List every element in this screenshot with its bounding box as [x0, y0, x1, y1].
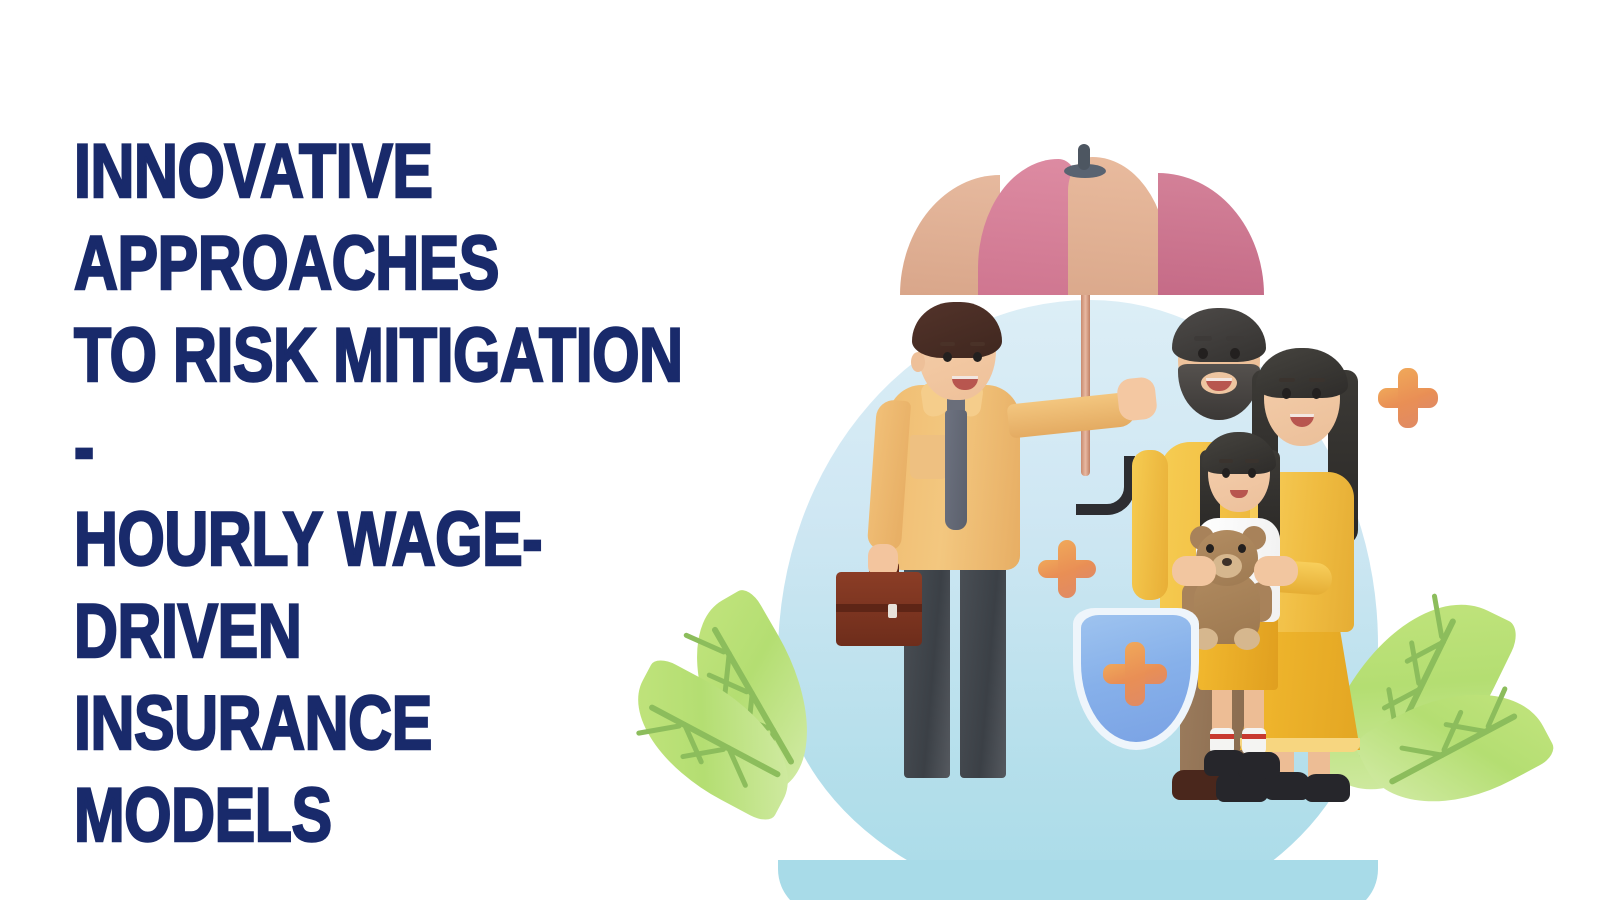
mother-eyebrow: [1279, 378, 1295, 382]
umbrella-tip: [1078, 144, 1090, 170]
umbrella-handle: [1076, 456, 1135, 515]
father-hand: [1172, 556, 1216, 586]
teddy-bear-eye: [1238, 544, 1246, 553]
protection-shield-icon: [1073, 608, 1199, 750]
agent-tie: [945, 410, 967, 530]
agent-ear: [911, 352, 925, 372]
shoe-icon: [956, 765, 1018, 799]
poster-canvas: INNOVATIVE APPROACHES TO RISK MITIGATION…: [0, 0, 1599, 900]
family-insurance-illustration: [660, 120, 1540, 810]
shoe-icon: [1238, 752, 1280, 778]
child-eyebrow: [1219, 459, 1233, 463]
mother-hair: [1256, 348, 1348, 398]
shoe-icon: [1304, 774, 1350, 802]
teddy-bear-nose: [1222, 558, 1232, 566]
father-eyebrow: [1194, 336, 1212, 341]
teddy-bear-eye: [1206, 544, 1214, 553]
mother-eye: [1312, 388, 1321, 399]
plus-icon: [1038, 540, 1096, 598]
briefcase-clasp: [888, 604, 897, 618]
agent-eye: [943, 352, 952, 362]
father-eye: [1230, 348, 1240, 359]
briefcase-flap: [836, 604, 922, 612]
child-eye: [1248, 468, 1256, 478]
agent-eye: [973, 352, 982, 362]
agent-hand: [1116, 376, 1158, 422]
child-eye: [1222, 468, 1230, 478]
father-hair: [1172, 308, 1266, 362]
agent-hair: [912, 302, 1002, 358]
mother-eyebrow: [1309, 378, 1325, 382]
agent-shirt-pocket: [910, 435, 948, 479]
mother-eye: [1282, 388, 1291, 399]
plus-icon: [1378, 368, 1438, 428]
teddy-bear-foot: [1234, 628, 1260, 650]
mother-hand: [1254, 556, 1298, 586]
agent-eyebrow: [970, 342, 985, 346]
agent-leg: [960, 550, 1006, 778]
father-arm: [1132, 450, 1168, 600]
page-title: INNOVATIVE APPROACHES TO RISK MITIGATION…: [74, 126, 698, 862]
sock-icon: [1242, 728, 1266, 754]
father-eye: [1198, 348, 1208, 359]
plus-icon: [1103, 642, 1167, 706]
agent-eyebrow: [940, 342, 955, 346]
father-eyebrow: [1226, 336, 1244, 341]
shoe-icon: [893, 765, 955, 799]
child-eyebrow: [1245, 459, 1259, 463]
blob-floor: [778, 860, 1378, 900]
